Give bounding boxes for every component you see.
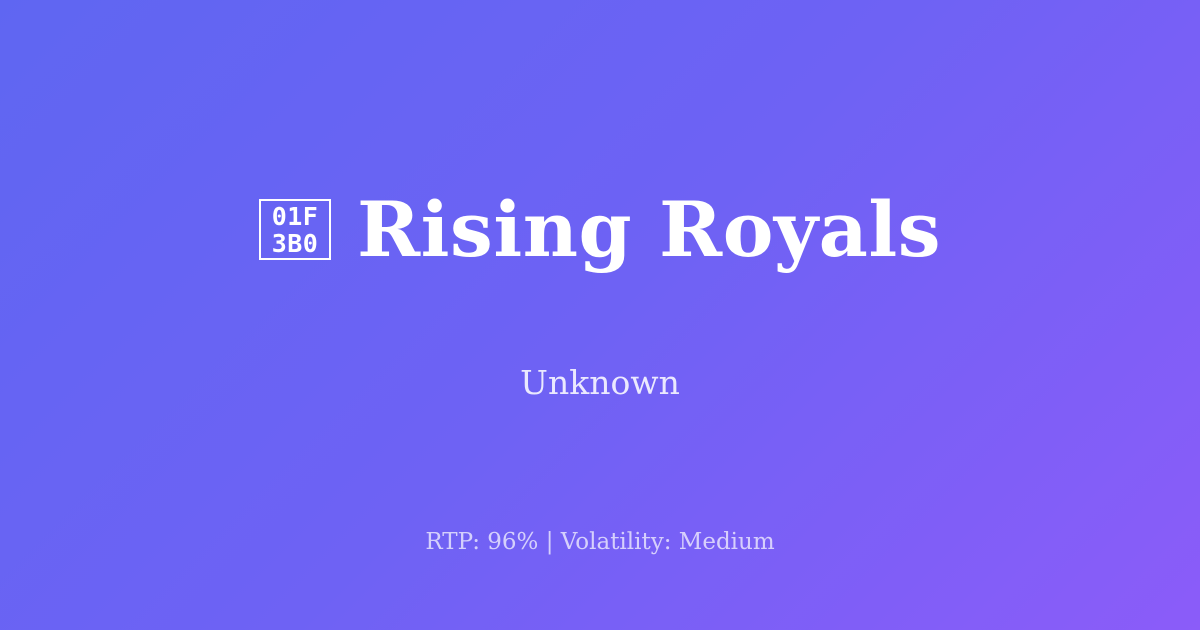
- og-share-card: 01F 3B0 Rising Royals Unknown RTP: 96% |…: [0, 0, 1200, 630]
- tofu-codepoint-top: 01F: [272, 203, 319, 230]
- game-meta-stats: RTP: 96% | Volatility: Medium: [0, 528, 1200, 558]
- slot-machine-emoji-icon: 01F 3B0: [259, 199, 331, 260]
- game-title: Rising Royals: [357, 190, 941, 271]
- tofu-codepoint-bottom: 3B0: [272, 230, 319, 257]
- title-line: 01F 3B0 Rising Royals: [259, 190, 941, 271]
- game-provider: Unknown: [0, 363, 1200, 403]
